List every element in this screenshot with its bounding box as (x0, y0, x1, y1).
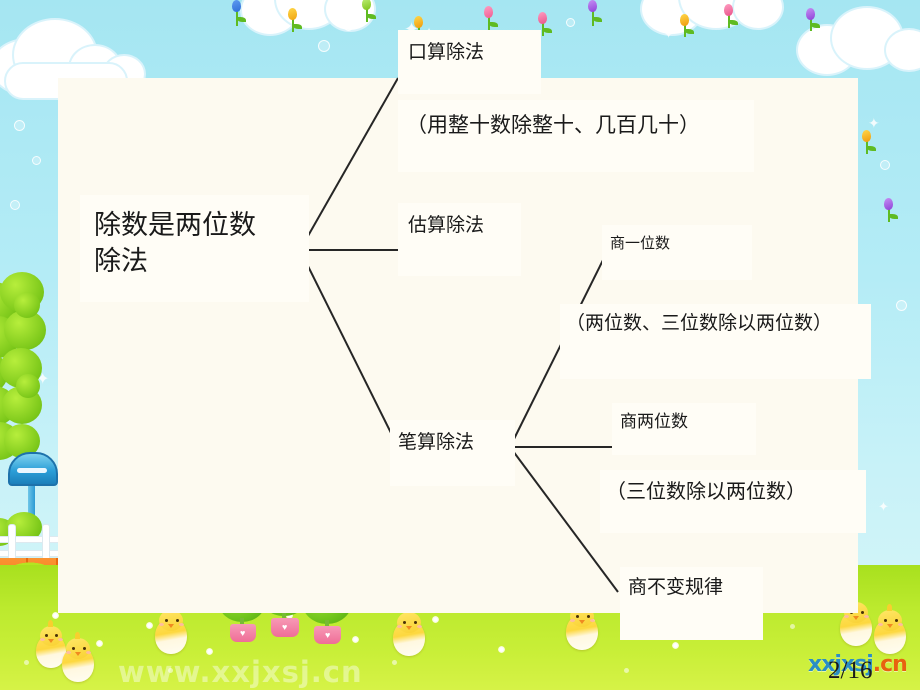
diagram-node-shang-yiweishu[interactable]: 商一位数 (602, 225, 752, 280)
slide-canvas: ✦ ✦ ✦ ✦ ✦ ✦ ✦ ✦ (0, 0, 920, 690)
connector-root-to-kousuan (300, 78, 398, 250)
diagram-node-kousuan[interactable]: 口算除法 (398, 30, 541, 94)
diagram-node-shang-bubian-guilv[interactable]: 商不变规律 (620, 567, 763, 640)
diagram-node-gusuan[interactable]: 估算除法 (398, 203, 521, 276)
diagram-node-shang-liangweishu[interactable]: 商两位数 (612, 403, 756, 455)
diagram-node-shang-liangweishu-detail[interactable]: （三位数除以两位数） (600, 470, 866, 533)
page-number: 2/16 (828, 657, 872, 685)
diagram-node-shang-yiweishu-detail[interactable]: （两位数、三位数除以两位数） (560, 304, 871, 379)
diagram-node-bisuan[interactable]: 笔算除法 (390, 420, 515, 486)
diagram-node-kousuan-detail[interactable]: （用整十数除整十、几百几十） (398, 100, 754, 172)
site-logo-suffix: .cn (873, 652, 907, 677)
diagram-root-node[interactable]: 除数是两位数 除法 (80, 195, 309, 302)
site-watermark: www.xxjxsj.cn (118, 655, 363, 689)
connector-root-to-bisuan (300, 250, 398, 447)
